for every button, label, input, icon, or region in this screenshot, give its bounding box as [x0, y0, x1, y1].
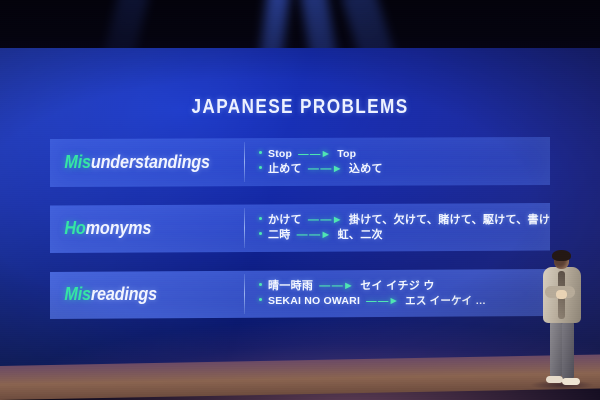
item-left: 二時: [268, 228, 291, 243]
arrow-icon: — —►: [306, 162, 345, 177]
bullet-dot-icon: [259, 283, 262, 286]
row-items: Stop — —► Top 止めて — —► 込めて: [245, 147, 550, 177]
row-label-highlight: Ho: [64, 218, 85, 238]
slide-row: Homonyms かけて — —► 掛けて、欠けて、賭けて、駆けて、書けて 二時…: [50, 203, 550, 253]
arrow-icon: — —►: [306, 213, 345, 228]
item-right: 込めて: [349, 162, 383, 177]
presenter-shoe: [562, 378, 580, 385]
bullet-dot-icon: [259, 217, 262, 220]
list-item: 晴一時雨 — —► セイ イチジ ウ: [259, 279, 550, 294]
presenter-leg: [550, 320, 562, 378]
row-label-rest: monyms: [86, 218, 152, 238]
item-left: 晴一時雨: [268, 279, 313, 294]
item-left: かけて: [268, 213, 302, 228]
row-label-rest: understandings: [91, 152, 210, 172]
slide-row: Misreadings 晴一時雨 — —► セイ イチジ ウ SEKAI NO …: [50, 269, 550, 319]
presenter-hair: [552, 250, 571, 261]
item-right: Top: [337, 147, 356, 162]
list-item: かけて — —► 掛けて、欠けて、賭けて、駆けて、書けて: [259, 213, 561, 228]
item-right: 虹、二次: [338, 228, 383, 243]
row-label: Homonyms: [50, 218, 225, 239]
presenter-figure: [534, 252, 590, 388]
row-label: Misunderstandings: [50, 152, 225, 173]
presenter-leg: [562, 320, 574, 380]
list-item: 二時 — —► 虹、二次: [259, 228, 561, 243]
list-item: 止めて — —► 込めて: [259, 162, 550, 177]
item-right: 掛けて、欠けて、賭けて、駆けて、書けて: [349, 213, 562, 228]
presenter-shoe: [546, 376, 563, 383]
row-label-highlight: Mis: [64, 284, 90, 304]
list-item: Stop — —► Top: [259, 147, 550, 162]
row-items: 晴一時雨 — —► セイ イチジ ウ SEKAI NO OWARI — —► エ…: [245, 279, 550, 309]
item-right: セイ イチジ ウ: [360, 279, 435, 294]
bullet-dot-icon: [259, 232, 262, 235]
presentation-slide: JAPANESE PROBLEMS Misunderstandings Stop…: [0, 48, 600, 348]
presenter-hands: [556, 290, 567, 299]
list-item: SEKAI NO OWARI — —► エス イーケイ …: [259, 294, 550, 309]
slide-row: Misunderstandings Stop — —► Top 止めて — —►…: [50, 137, 550, 187]
bullet-dot-icon: [259, 166, 262, 169]
item-left: 止めて: [268, 162, 302, 177]
row-label-rest: readings: [91, 284, 157, 304]
arrow-icon: — —►: [296, 147, 333, 162]
arrow-icon: — —►: [364, 294, 401, 309]
slide-title: JAPANESE PROBLEMS: [42, 96, 558, 119]
arrow-icon: — —►: [295, 228, 334, 243]
bullet-dot-icon: [259, 151, 262, 154]
item-left: Stop: [268, 147, 292, 162]
item-left: SEKAI NO OWARI: [268, 294, 360, 309]
stage-scene: JAPANESE PROBLEMS Misunderstandings Stop…: [0, 0, 600, 400]
bullet-dot-icon: [259, 298, 262, 301]
arrow-icon: — —►: [317, 279, 356, 294]
item-right: エス イーケイ …: [405, 294, 486, 309]
row-label-highlight: Mis: [64, 152, 90, 172]
row-items: かけて — —► 掛けて、欠けて、賭けて、駆けて、書けて 二時 — —► 虹、二…: [245, 213, 561, 243]
row-label: Misreadings: [50, 284, 225, 305]
